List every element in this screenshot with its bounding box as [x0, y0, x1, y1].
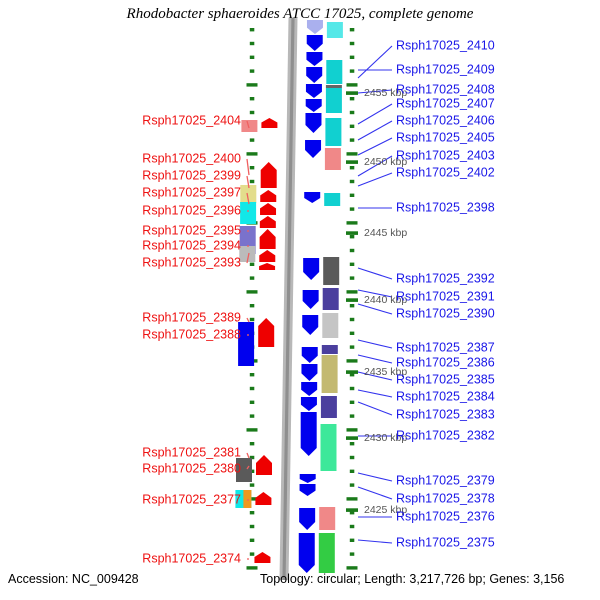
forward-feature-box[interactable] — [325, 148, 341, 170]
ruler-left-tick — [250, 387, 255, 390]
ruler-right-tick — [347, 290, 358, 293]
ruler-right-tick — [350, 304, 355, 307]
forward-feature-box[interactable] — [322, 345, 338, 354]
forward-gene-arrow[interactable] — [300, 474, 316, 483]
topology-text: Topology: circular; Length: 3,217,726 bp… — [260, 572, 564, 586]
reverse-gene-arrow[interactable] — [261, 162, 277, 188]
forward-feature-box[interactable] — [319, 507, 335, 530]
ruler-right-tick — [350, 401, 355, 404]
reverse-feature-box[interactable] — [240, 202, 256, 224]
gene-label-leader — [358, 340, 392, 348]
gene-label[interactable]: Rsph17025_2405 — [396, 130, 495, 144]
ruler-left-tick — [250, 304, 255, 307]
scale-tick — [346, 160, 358, 164]
forward-gene-arrow[interactable] — [306, 67, 322, 83]
ruler-right-tick — [350, 387, 355, 390]
forward-gene-arrow[interactable] — [303, 258, 319, 280]
ruler-right-tick — [350, 276, 355, 279]
reverse-strand-genes — [254, 118, 277, 563]
reverse-feature-box[interactable] — [241, 120, 257, 132]
forward-gene-arrow[interactable] — [307, 35, 323, 51]
gene-label-leader — [358, 540, 392, 543]
reverse-gene-arrow[interactable] — [260, 216, 276, 228]
ruler-right-tick — [350, 552, 355, 555]
ruler-right-tick — [350, 69, 355, 72]
gene-label-leader — [358, 104, 392, 124]
forward-feature-box[interactable] — [323, 257, 339, 285]
tick-column-left — [247, 28, 258, 570]
reverse-gene-arrow[interactable] — [260, 190, 276, 202]
ruler-left-tick — [247, 566, 258, 569]
gene-label[interactable]: Rsph17025_2389 — [142, 310, 241, 324]
forward-gene-arrow[interactable] — [301, 382, 317, 396]
forward-gene-arrow[interactable] — [302, 347, 318, 363]
ruler-left-tick — [247, 83, 258, 86]
forward-gene-arrow[interactable] — [306, 52, 322, 66]
ruler-left-tick — [250, 539, 255, 542]
gene-label[interactable]: Rsph17025_2402 — [396, 165, 495, 179]
gene-label[interactable]: Rsph17025_2374 — [142, 551, 241, 565]
forward-gene-arrow[interactable] — [301, 397, 317, 411]
gene-label[interactable]: Rsph17025_2385 — [396, 372, 495, 386]
forward-gene-arrow[interactable] — [303, 290, 319, 309]
gene-label[interactable]: Rsph17025_2400 — [142, 151, 241, 165]
forward-feature-box[interactable] — [326, 88, 342, 113]
ruler-right-tick — [350, 194, 355, 197]
ruler-right-tick — [350, 414, 355, 417]
gene-label[interactable]: Rsph17025_2381 — [142, 445, 241, 459]
forward-gene-arrow[interactable] — [306, 84, 322, 98]
ruler-right-tick — [350, 180, 355, 183]
genome-map-canvas: 2455 kbp2450 kbp2445 kbp2440 kbp2435 kbp… — [0, 0, 600, 600]
scale-tick — [346, 298, 358, 302]
ruler-left-tick — [250, 56, 255, 59]
gene-label[interactable]: Rsph17025_2386 — [396, 355, 495, 369]
reverse-gene-arrow[interactable] — [256, 455, 272, 475]
ruler-right-tick — [350, 442, 355, 445]
forward-gene-arrow[interactable] — [302, 315, 318, 335]
ruler-left-tick — [250, 552, 255, 555]
forward-feature-box[interactable] — [325, 118, 341, 146]
ruler-right-tick — [350, 207, 355, 210]
forward-feature-box[interactable] — [321, 424, 337, 471]
gene-label-leader — [358, 121, 392, 140]
ruler-right-tick — [350, 56, 355, 59]
ruler-right-tick — [350, 138, 355, 141]
gene-label-leader — [247, 159, 249, 175]
ruler-right-tick — [350, 332, 355, 335]
gene-label[interactable]: Rsph17025_2404 — [142, 113, 241, 127]
scale-tick — [346, 370, 358, 374]
ruler-right-tick — [350, 166, 355, 169]
ruler-left-tick — [250, 138, 255, 141]
ruler-left-tick — [250, 97, 255, 100]
ruler-right-tick — [350, 97, 355, 100]
gene-label[interactable]: Rsph17025_2397 — [142, 185, 241, 199]
forward-gene-arrow[interactable] — [300, 484, 316, 496]
reverse-gene-arrow[interactable] — [261, 118, 277, 128]
gene-label[interactable]: Rsph17025_2382 — [396, 428, 495, 442]
gene-label-leader — [358, 402, 392, 415]
gene-label[interactable]: Rsph17025_2391 — [396, 289, 495, 303]
scale-tick — [346, 91, 358, 95]
gene-label-leader — [247, 453, 249, 458]
ruler-left-tick — [250, 166, 255, 169]
ruler-right-tick — [350, 263, 355, 266]
ruler-right-tick — [347, 428, 358, 431]
forward-feature-box[interactable] — [322, 355, 338, 393]
forward-feature-box[interactable] — [319, 533, 335, 573]
forward-feature-box[interactable] — [327, 22, 343, 38]
ruler-left-tick — [250, 263, 255, 266]
reverse-gene-arrow[interactable] — [254, 552, 270, 563]
gene-label-leader — [358, 173, 392, 186]
ruler-left-tick — [247, 152, 258, 155]
ruler-left-tick — [250, 525, 255, 528]
forward-gene-arrow[interactable] — [305, 113, 321, 133]
gene-label-leader — [358, 473, 392, 481]
forward-feature-box[interactable] — [321, 396, 337, 418]
ruler-left-tick — [250, 276, 255, 279]
ruler-right-tick — [347, 566, 358, 569]
forward-gene-arrow[interactable] — [299, 508, 315, 530]
gene-label-leader — [358, 138, 392, 155]
ruler-left-tick — [250, 28, 255, 31]
forward-feature-box[interactable] — [326, 60, 342, 84]
ruler-right-tick — [350, 318, 355, 321]
ruler-left-tick — [250, 483, 255, 486]
gene-label[interactable]: Rsph17025_2378 — [396, 491, 495, 505]
gene-label[interactable]: Rsph17025_2375 — [396, 535, 495, 549]
ruler-right-tick — [350, 125, 355, 128]
gene-label-leader — [358, 355, 392, 363]
gene-label[interactable]: Rsph17025_2388 — [142, 327, 241, 341]
ruler-right-tick — [347, 83, 358, 86]
gene-label[interactable]: Rsph17025_2410 — [396, 38, 495, 52]
ruler-left-tick — [250, 42, 255, 45]
forward-gene-arrow[interactable] — [307, 20, 323, 34]
reverse-feature-box[interactable] — [243, 490, 251, 508]
ruler-left-tick — [250, 511, 255, 514]
forward-gene-arrow[interactable] — [299, 533, 315, 573]
gene-label[interactable]: Rsph17025_2408 — [396, 82, 495, 96]
ruler-right-tick — [350, 42, 355, 45]
gene-label[interactable]: Rsph17025_2390 — [396, 306, 495, 320]
ruler-right-tick — [350, 525, 355, 528]
ruler-right-tick — [347, 359, 358, 362]
forward-gene-arrow[interactable] — [304, 192, 320, 203]
reverse-gene-arrow[interactable] — [255, 492, 271, 505]
forward-gene-arrow[interactable] — [306, 99, 322, 112]
forward-feature-box[interactable] — [324, 193, 340, 206]
gene-label[interactable]: Rsph17025_2395 — [142, 223, 241, 237]
ruler-right-tick — [350, 345, 355, 348]
gene-label[interactable]: Rsph17025_2379 — [396, 473, 495, 487]
gene-label[interactable]: Rsph17025_2403 — [396, 148, 495, 162]
forward-strand-boxes — [319, 22, 343, 573]
gene-label[interactable]: Rsph17025_2392 — [396, 271, 495, 285]
ruler-left-tick — [250, 373, 255, 376]
ruler-left-tick — [250, 111, 255, 114]
forward-strand-genes — [299, 20, 323, 573]
gene-label-leader — [358, 390, 392, 397]
ruler-right-tick — [347, 497, 358, 500]
reverse-gene-arrow[interactable] — [259, 263, 275, 270]
accession-text: Accession: NC_009428 — [8, 572, 139, 586]
ruler-left-tick — [250, 442, 255, 445]
ruler-left-tick — [250, 180, 255, 183]
gene-label-leader — [358, 487, 392, 499]
ruler-right-tick — [347, 152, 358, 155]
ruler-left-tick — [250, 414, 255, 417]
ruler-left-tick — [247, 290, 258, 293]
gene-label-leader — [358, 46, 392, 78]
reverse-gene-arrow[interactable] — [258, 318, 274, 347]
gene-label[interactable]: Rsph17025_2376 — [396, 509, 495, 523]
ruler-right-tick — [350, 235, 355, 238]
gene-label[interactable]: Rsph17025_2409 — [396, 62, 495, 76]
ruler-right-tick — [347, 221, 358, 224]
gene-label[interactable]: Rsph17025_2383 — [396, 407, 495, 421]
forward-feature-box[interactable] — [322, 313, 338, 338]
gene-labels-left: Rsph17025_2404Rsph17025_2400Rsph17025_23… — [142, 113, 241, 565]
gene-label-leader — [247, 318, 249, 322]
scale-tick — [346, 231, 358, 235]
gene-label[interactable]: Rsph17025_2377 — [142, 492, 241, 506]
genome-backbone — [284, 18, 293, 580]
ruler-right-tick — [350, 28, 355, 31]
forward-gene-arrow[interactable] — [301, 364, 317, 381]
ruler-right-tick — [350, 483, 355, 486]
gene-label[interactable]: Rsph17025_2398 — [396, 200, 495, 214]
reverse-gene-arrow[interactable] — [259, 250, 275, 262]
ruler-right-tick — [350, 111, 355, 114]
ruler-left-tick — [250, 69, 255, 72]
ruler-left-tick — [247, 428, 258, 431]
gene-label[interactable]: Rsph17025_2399 — [142, 168, 241, 182]
ruler-right-tick — [350, 539, 355, 542]
gene-label[interactable]: Rsph17025_2393 — [142, 255, 241, 269]
ruler-right-tick — [350, 249, 355, 252]
reverse-gene-arrow[interactable] — [260, 203, 276, 215]
ruler-left-tick — [250, 401, 255, 404]
forward-gene-arrow[interactable] — [301, 412, 317, 456]
ruler-right-tick — [350, 456, 355, 459]
gene-label[interactable]: Rsph17025_2384 — [396, 389, 495, 403]
gene-label[interactable]: Rsph17025_2380 — [142, 461, 241, 475]
scale-tick — [346, 436, 358, 440]
gene-labels-right: Rsph17025_2410Rsph17025_2409Rsph17025_24… — [396, 38, 495, 549]
ruler-right-tick — [350, 470, 355, 473]
forward-feature-box[interactable] — [323, 288, 339, 310]
gene-label[interactable]: Rsph17025_2394 — [142, 238, 241, 252]
genome-map-viewer: Rhodobacter sphaeroides ATCC 17025, comp… — [0, 0, 600, 600]
gene-label[interactable]: Rsph17025_2396 — [142, 203, 241, 217]
gene-label[interactable]: Rsph17025_2406 — [396, 113, 495, 127]
scale-label: 2445 kbp — [364, 227, 407, 239]
gene-label[interactable]: Rsph17025_2387 — [396, 340, 495, 354]
reverse-gene-arrow[interactable] — [260, 229, 276, 249]
forward-gene-arrow[interactable] — [305, 140, 321, 158]
ruler-left-tick — [250, 318, 255, 321]
scale-tick — [346, 508, 358, 512]
gene-label-leader — [358, 268, 392, 279]
gene-label[interactable]: Rsph17025_2407 — [396, 96, 495, 110]
forward-feature-box[interactable] — [326, 85, 342, 88]
